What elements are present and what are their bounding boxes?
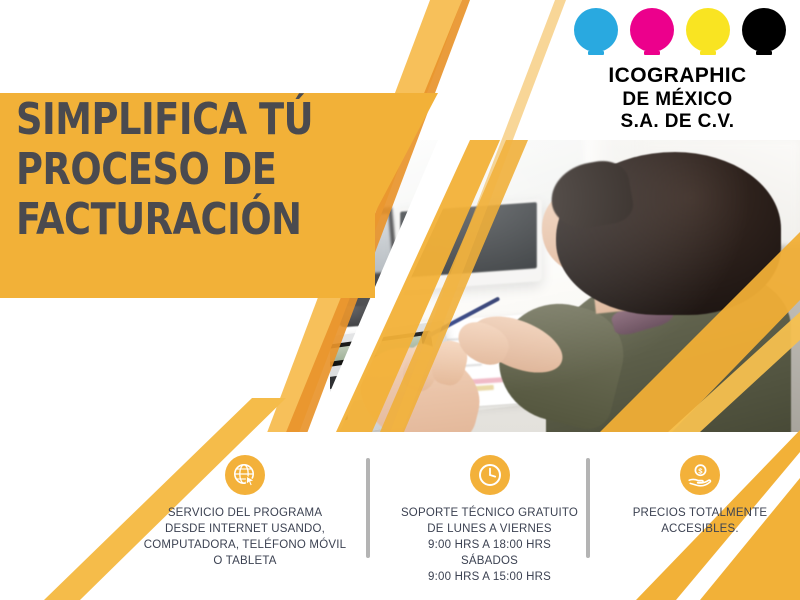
poster-canvas: SIMPLIFICA TÚ PROCESO DE FACTURACIÓN ICO…	[0, 0, 800, 600]
logo-line-2: DE MÉXICO	[565, 89, 790, 111]
feature-support: SOPORTE TÉCNICO GRATUITO DE LUNES A VIER…	[382, 455, 597, 585]
feature-service: SERVICIO DEL PROGRAMA DESDE INTERNET USA…	[140, 455, 350, 569]
logo-text: ICOGRAPHIC DE MÉXICO S.A. DE C.V.	[565, 64, 790, 134]
hand-money-icon: $	[680, 455, 720, 495]
feature-support-text: SOPORTE TÉCNICO GRATUITO DE LUNES A VIER…	[382, 505, 597, 585]
globe-cursor-icon	[225, 455, 265, 495]
brand-logo: ICOGRAPHIC DE MÉXICO S.A. DE C.V.	[565, 8, 790, 134]
magenta-dot	[630, 8, 674, 58]
yellow-dot	[686, 8, 730, 58]
top-white-band	[0, 0, 300, 93]
cmyk-dots	[565, 8, 790, 58]
feature-service-text: SERVICIO DEL PROGRAMA DESDE INTERNET USA…	[140, 505, 350, 569]
logo-line-1: ICOGRAPHIC	[565, 64, 790, 89]
feature-pricing-text: PRECIOS TOTALMENTE ACCESIBLES.	[600, 505, 800, 537]
black-dot	[742, 8, 786, 58]
features-row: SERVICIO DEL PROGRAMA DESDE INTERNET USA…	[0, 455, 800, 600]
clock-icon	[470, 455, 510, 495]
svg-text:$: $	[698, 466, 703, 475]
cyan-dot	[574, 8, 618, 58]
page-title: SIMPLIFICA TÚ PROCESO DE FACTURACIÓN	[16, 95, 360, 245]
left-white-band	[0, 298, 200, 438]
diagonal-stripe-right-a	[600, 232, 800, 432]
feature-pricing: $ PRECIOS TOTALMENTE ACCESIBLES.	[600, 455, 800, 537]
logo-line-3: S.A. DE C.V.	[565, 111, 790, 133]
feature-divider-1	[366, 458, 370, 558]
